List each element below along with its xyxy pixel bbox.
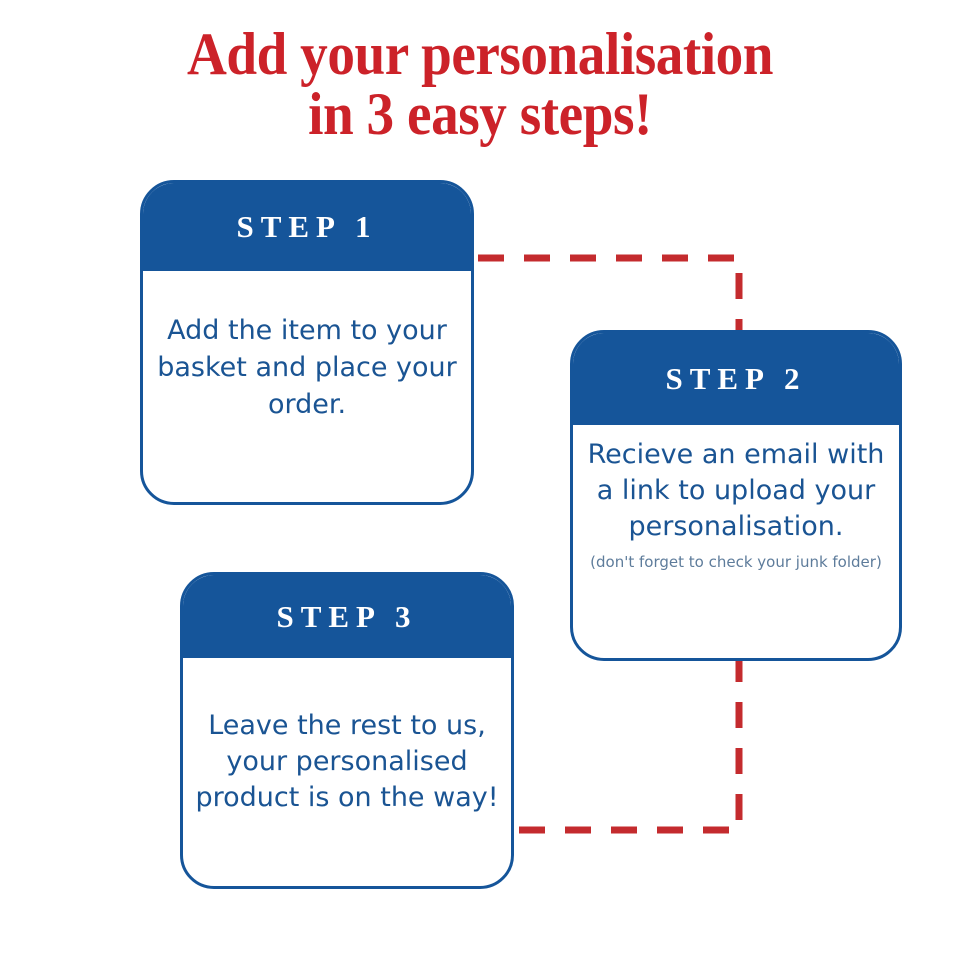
page-title-line-2: in 3 easy steps! bbox=[38, 84, 921, 144]
step-1-body: Add the item to your basket and place yo… bbox=[143, 271, 471, 502]
step-2-note: (don't forget to check your junk folder) bbox=[590, 553, 882, 571]
page-title-line-1: Add your personalisation bbox=[38, 24, 921, 84]
step-2-header: STEP 2 bbox=[573, 333, 899, 425]
step-1-text: Add the item to your basket and place yo… bbox=[153, 312, 461, 423]
step-2-body: Recieve an email with a link to upload y… bbox=[573, 425, 899, 658]
step-3-text: Leave the rest to us, your personalised … bbox=[193, 708, 501, 816]
step-3-body: Leave the rest to us, your personalised … bbox=[183, 658, 511, 886]
infographic-canvas: Add your personalisation in 3 easy steps… bbox=[0, 0, 960, 960]
step-3-header: STEP 3 bbox=[183, 575, 511, 658]
step-card-2: STEP 2 Recieve an email with a link to u… bbox=[570, 330, 902, 661]
connector-step1-to-step2 bbox=[478, 258, 739, 336]
step-card-1: STEP 1 Add the item to your basket and p… bbox=[140, 180, 474, 505]
step-2-text: Recieve an email with a link to upload y… bbox=[583, 437, 889, 545]
step-card-3: STEP 3 Leave the rest to us, your person… bbox=[180, 572, 514, 889]
connector-step2-to-step3 bbox=[516, 656, 739, 830]
step-1-header: STEP 1 bbox=[143, 183, 471, 271]
page-title: Add your personalisation in 3 easy steps… bbox=[38, 24, 921, 144]
